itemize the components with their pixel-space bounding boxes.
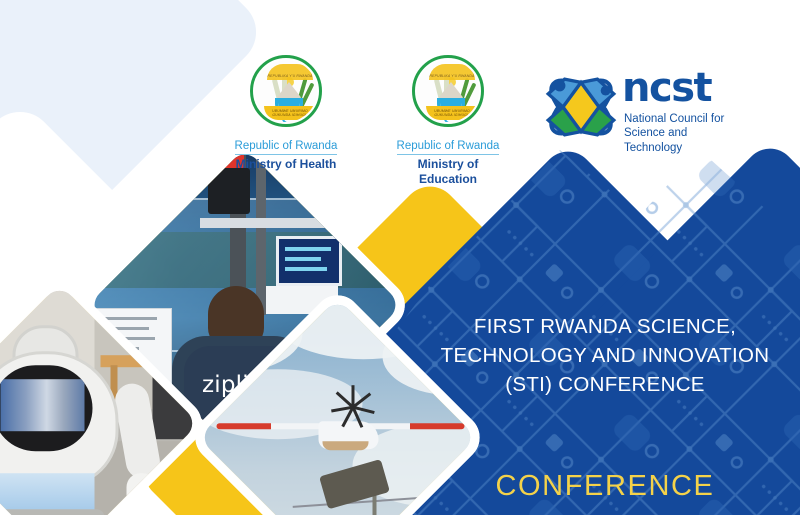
ministry-label: Ministry of Health (230, 157, 342, 172)
logo-ncst: ncst National Council for Science and Te… (536, 58, 746, 154)
ministry-label: Ministry of Education (388, 157, 508, 187)
logo-caption: Republic of Rwanda Ministry of Education (388, 135, 508, 187)
logo-caption: Republic of Rwanda Ministry of Health (230, 135, 342, 172)
drone-payload-bay (323, 441, 369, 450)
conference-title: FIRST RWANDA SCIENCE, TECHNOLOGY AND INN… (430, 312, 780, 399)
conference-banner: zipline (0, 0, 800, 515)
emblem-motto-bottom: UBUMWE UMURIMO GUKUNDA IGIHUGU (426, 109, 478, 117)
ncst-atom-logo-icon (540, 66, 622, 148)
robot-collar (0, 509, 105, 515)
ncst-subtitle-line1: National Council for (624, 112, 746, 126)
robot-face-screen (0, 365, 93, 451)
country-label: Republic of Rwanda (397, 139, 500, 155)
ncst-subtitle: National Council for Science and Technol… (624, 112, 746, 155)
rwanda-coat-of-arms-icon: REPUBLIKA Y'U RWANDA UBUMWE UMURIMO GUKU… (250, 55, 322, 127)
ncst-subtitle-line2: Science and Technology (624, 126, 746, 155)
rwanda-coat-of-arms-icon: REPUBLIKA Y'U RWANDA UBUMWE UMURIMO GUKU… (412, 55, 484, 127)
emblem-motto-bottom: UBUMWE UMURIMO GUKUNDA IGIHUGU (264, 109, 316, 117)
drone-propeller (331, 385, 375, 429)
ncst-wordmark: ncst (622, 68, 711, 108)
logo-row: REPUBLIKA Y'U RWANDA UBUMWE UMURIMO GUKU… (0, 0, 800, 180)
conference-subtitle: CONFERENCE (430, 470, 780, 503)
logo-ministry-of-education: REPUBLIKA Y'U RWANDA UBUMWE UMURIMO GUKU… (388, 55, 508, 187)
emblem-motto-top: REPUBLIKA Y'U RWANDA (429, 74, 475, 78)
logo-ministry-of-health: REPUBLIKA Y'U RWANDA UBUMWE UMURIMO GUKU… (230, 55, 342, 172)
zipline-display-screen (276, 236, 342, 286)
title-line-3: (STI) CONFERENCE (430, 370, 780, 399)
robot-screen-content (0, 379, 84, 431)
emblem-motto-top: REPUBLIKA Y'U RWANDA (267, 74, 313, 78)
country-label: Republic of Rwanda (235, 139, 338, 155)
title-line-2: TECHNOLOGY AND INNOVATION (430, 341, 780, 370)
title-line-1: FIRST RWANDA SCIENCE, (430, 312, 780, 341)
zipline-rail (200, 218, 325, 228)
